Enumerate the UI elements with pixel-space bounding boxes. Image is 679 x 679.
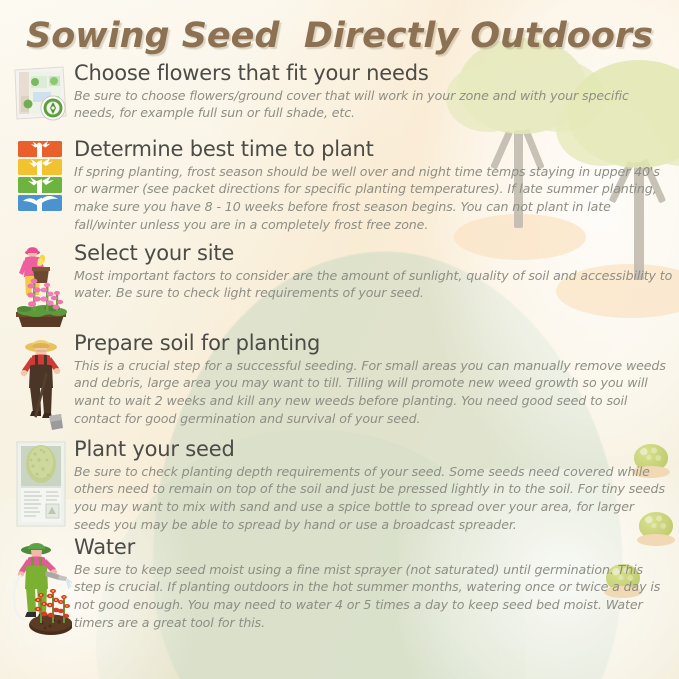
gardener-with-shovel-icon <box>10 332 72 436</box>
seed-packet-icon <box>10 438 72 532</box>
step-heading: Plant your seed <box>74 438 673 462</box>
step-description: Be sure to keep seed moist using a fine … <box>74 561 673 633</box>
step-description: Most important factors to consider are t… <box>74 267 673 303</box>
garden-plan-compass-icon <box>10 62 72 128</box>
step-heading: Prepare soil for planting <box>74 332 673 356</box>
step-description: This is a crucial step for a successful … <box>74 357 673 429</box>
step-plant-seed: Plant your seed Be sure to check plantin… <box>0 438 679 534</box>
gardener-watering-icon <box>10 536 72 640</box>
step-heading: Choose flowers that fit your needs <box>74 62 673 86</box>
step-description: Be sure to choose flowers/ground cover t… <box>74 87 673 123</box>
step-text: Plant your seed Be sure to check plantin… <box>74 438 673 534</box>
step-description: Be sure to check planting depth requirem… <box>74 463 673 535</box>
page-title: Sowing Seed Directly Outdoors <box>0 16 679 56</box>
step-heading: Select your site <box>74 242 673 266</box>
infographic-poster: Sowing Seed Directly Outdoors <box>0 0 679 679</box>
step-select-site: Select your site Most important factors … <box>0 242 679 328</box>
step-water: Water Be sure to keep seed moist using a… <box>0 536 679 640</box>
step-choose-flowers: Choose flowers that fit your needs Be su… <box>0 62 679 128</box>
step-text: Select your site Most important factors … <box>74 242 673 302</box>
step-text: Determine best time to plant If spring p… <box>74 138 673 234</box>
four-seasons-icon <box>10 138 72 218</box>
step-heading: Water <box>74 536 673 560</box>
step-text: Prepare soil for planting This is a cruc… <box>74 332 673 428</box>
step-description: If spring planting, frost season should … <box>74 163 673 235</box>
gardener-with-flowers-icon <box>10 242 72 328</box>
step-text: Water Be sure to keep seed moist using a… <box>74 536 673 632</box>
step-heading: Determine best time to plant <box>74 138 673 162</box>
step-determine-time: Determine best time to plant If spring p… <box>0 138 679 234</box>
steps-list: Choose flowers that fit your needs Be su… <box>0 62 679 644</box>
step-text: Choose flowers that fit your needs Be su… <box>74 62 673 122</box>
step-prepare-soil: Prepare soil for planting This is a cruc… <box>0 332 679 436</box>
